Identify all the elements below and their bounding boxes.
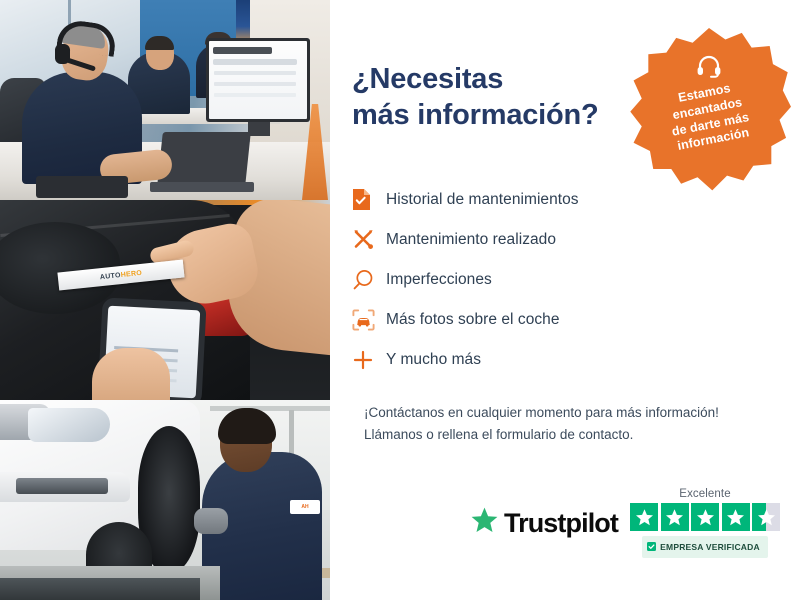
- rating-star-1: [630, 503, 658, 531]
- feature-label: Y mucho más: [386, 351, 481, 369]
- rating-star-5-half: [752, 503, 780, 531]
- feature-item-more-photos: Más fotos sobre el coche: [352, 300, 759, 340]
- mechanic-wheel-photo: AH: [0, 400, 330, 600]
- tool-cabinet: [0, 578, 200, 600]
- monitor-stand: [248, 122, 270, 136]
- verified-label: EMPRESA VERIFICADA: [660, 542, 760, 552]
- contact-line-2: Llámanos o rellena el formulario de cont…: [364, 424, 759, 446]
- feature-item-maintenance-done: Mantenimiento realizado: [352, 220, 759, 260]
- car-bumper-vent: [16, 478, 108, 494]
- headline-line-1: ¿Necesitas: [352, 62, 632, 98]
- trustpilot-widget[interactable]: Trustpilot Excelente: [470, 488, 780, 558]
- rating-star-3: [691, 503, 719, 531]
- feature-item-imperfections: Imperfecciones: [352, 260, 759, 300]
- trustpilot-logo[interactable]: Trustpilot: [470, 506, 618, 540]
- document-check-icon: [352, 187, 386, 213]
- car-photo-frame-icon: [352, 307, 386, 333]
- inspector-second-hand: [92, 348, 170, 400]
- trustpilot-wordmark: Trustpilot: [504, 508, 618, 539]
- feature-list: Historial de mantenimientos Mantenimient…: [352, 180, 759, 380]
- status-badge: EMPRESA VERIFICADA: [642, 536, 768, 558]
- workshop-shelf: [210, 406, 330, 411]
- desk-tablet: [36, 176, 128, 198]
- rating-star-2: [661, 503, 689, 531]
- verified-check-icon: [647, 538, 656, 556]
- content-panel: ¿Necesitas más información? Estamos enca…: [330, 0, 799, 600]
- car-headlight: [28, 408, 110, 442]
- feature-label: Más fotos sobre el coche: [386, 311, 560, 329]
- laptop-base: [150, 182, 254, 192]
- ruler-brand-first: AUTO: [100, 272, 122, 281]
- page-title: ¿Necesitas más información?: [352, 62, 632, 134]
- contact-text: ¡Contáctanos en cualquier momento para m…: [364, 402, 759, 447]
- crossed-tools-icon: [352, 227, 386, 253]
- laptop-screen: [157, 132, 251, 186]
- call-center-agents-photo: [0, 0, 330, 200]
- desktop-monitor: [206, 38, 310, 122]
- feature-label: Historial de mantenimientos: [386, 191, 579, 209]
- ruler-brand-second: HERO: [120, 269, 142, 278]
- uniform-logo: AH: [290, 500, 320, 514]
- plus-icon: [352, 347, 386, 373]
- photo-collage: AUTOHERO AH: [0, 0, 330, 600]
- trustpilot-star-icon: [470, 506, 499, 540]
- contact-line-1: ¡Contáctanos en cualquier momento para m…: [364, 402, 759, 424]
- rating-star-4: [722, 503, 750, 531]
- rating-label: Excelente: [679, 488, 730, 500]
- headset-icon: [696, 54, 722, 83]
- monitor-screen: [209, 41, 307, 119]
- feature-label: Mantenimiento realizado: [386, 231, 556, 249]
- headline-line-2: más información?: [352, 98, 632, 134]
- magnifier-icon: [352, 267, 386, 293]
- feature-label: Imperfecciones: [386, 271, 492, 289]
- information-promo-banner: AUTOHERO AH: [0, 0, 799, 600]
- agent-two-hair: [145, 36, 174, 50]
- rating-stars: [630, 503, 780, 531]
- promo-badge: Estamos encantados de darte más informac…: [627, 28, 791, 192]
- mechanic-glove: [194, 508, 228, 534]
- car-inspection-ruler-photo: AUTOHERO: [0, 200, 330, 400]
- feature-item-much-more: Y mucho más: [352, 340, 759, 380]
- trustpilot-rating[interactable]: Excelente: [630, 488, 780, 558]
